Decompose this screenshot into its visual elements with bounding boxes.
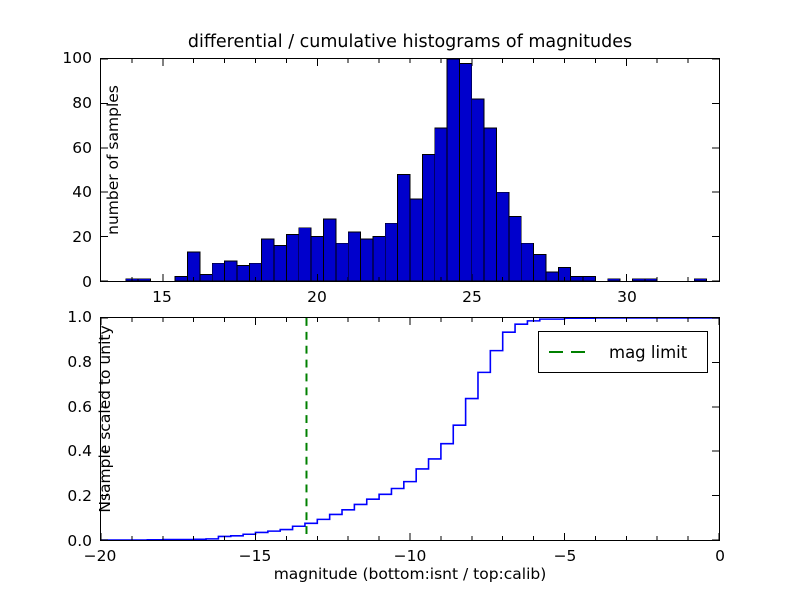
top-y-tick-label: 80 (38, 94, 92, 112)
bottom-y-axis-label: Nsample scaled to unity (96, 307, 114, 531)
histogram-bar (175, 277, 187, 281)
histogram-bar (299, 228, 311, 281)
top-y-axis-label: number of samples (104, 48, 122, 272)
cumulative-histogram-axes: Nsample scaled to unity mag limit (100, 317, 720, 541)
top-y-tick-label: 100 (38, 49, 92, 67)
histogram-bar (422, 154, 434, 281)
histogram-bar (361, 239, 373, 281)
top-y-tick-label: 20 (38, 228, 92, 246)
histogram-bar (348, 232, 360, 281)
histogram-bar (459, 63, 471, 281)
top-y-tick-label: 60 (38, 139, 92, 157)
bottom-y-tick-label: 0.4 (38, 442, 92, 460)
legend-label-mag-limit: mag limit (609, 343, 687, 362)
histogram-bar (645, 279, 657, 281)
bottom-x-tick-label: −10 (394, 547, 427, 565)
bottom-y-tick-label: 0.6 (38, 398, 92, 416)
histogram-bar (274, 245, 286, 281)
histogram-bar (262, 239, 274, 281)
legend: mag limit (538, 331, 708, 373)
histogram-bar (608, 279, 620, 281)
differential-histogram-plot (101, 59, 719, 281)
histogram-bar (286, 234, 298, 281)
bottom-y-tick-label: 0.2 (38, 487, 92, 505)
differential-histogram-axes: number of samples (100, 58, 720, 282)
histogram-bar (188, 252, 200, 281)
histogram-bar (138, 279, 150, 281)
histogram-bar (521, 243, 533, 281)
x-axis-label: magnitude (bottom:isnt / top:calib) (100, 565, 720, 583)
histogram-bar (323, 219, 335, 281)
top-x-tick-label: 30 (617, 288, 637, 306)
bottom-x-tick-label: −5 (554, 547, 577, 565)
bottom-x-tick-label: −15 (239, 547, 272, 565)
histogram-bar (472, 99, 484, 281)
bottom-y-tick-label: 0.8 (38, 353, 92, 371)
figure-canvas: differential / cumulative histograms of … (0, 0, 800, 600)
histogram-bar (212, 263, 224, 281)
histogram-bar (385, 223, 397, 281)
histogram-bar (336, 243, 348, 281)
histogram-bar (484, 128, 496, 281)
top-y-tick-label: 0 (38, 273, 92, 291)
top-y-tick-label: 40 (38, 183, 92, 201)
mag-limit-line-icon (549, 351, 595, 353)
histogram-bar (632, 279, 644, 281)
histogram-bar (410, 199, 422, 281)
top-x-tick-label: 15 (152, 288, 172, 306)
histogram-bar (373, 237, 385, 281)
top-x-tick-label: 25 (462, 288, 482, 306)
bottom-y-tick-label: 1.0 (38, 308, 92, 326)
histogram-bar (497, 192, 509, 281)
histogram-bar (447, 59, 459, 281)
histogram-bar (583, 277, 595, 281)
histogram-bar (509, 217, 521, 281)
histogram-bar (398, 174, 410, 281)
histogram-bar (534, 254, 546, 281)
histogram-bar (237, 265, 249, 281)
histogram-bar (694, 279, 706, 281)
histogram-bar (225, 261, 237, 281)
bottom-y-tick-label: 0.0 (38, 532, 92, 550)
histogram-bar (200, 274, 212, 281)
top-x-tick-label: 20 (307, 288, 327, 306)
bottom-x-tick-label: 0 (715, 547, 725, 565)
figure-title: differential / cumulative histograms of … (100, 31, 720, 53)
histogram-bar (571, 277, 583, 281)
histogram-bar (546, 272, 558, 281)
histogram-bar (435, 128, 447, 281)
